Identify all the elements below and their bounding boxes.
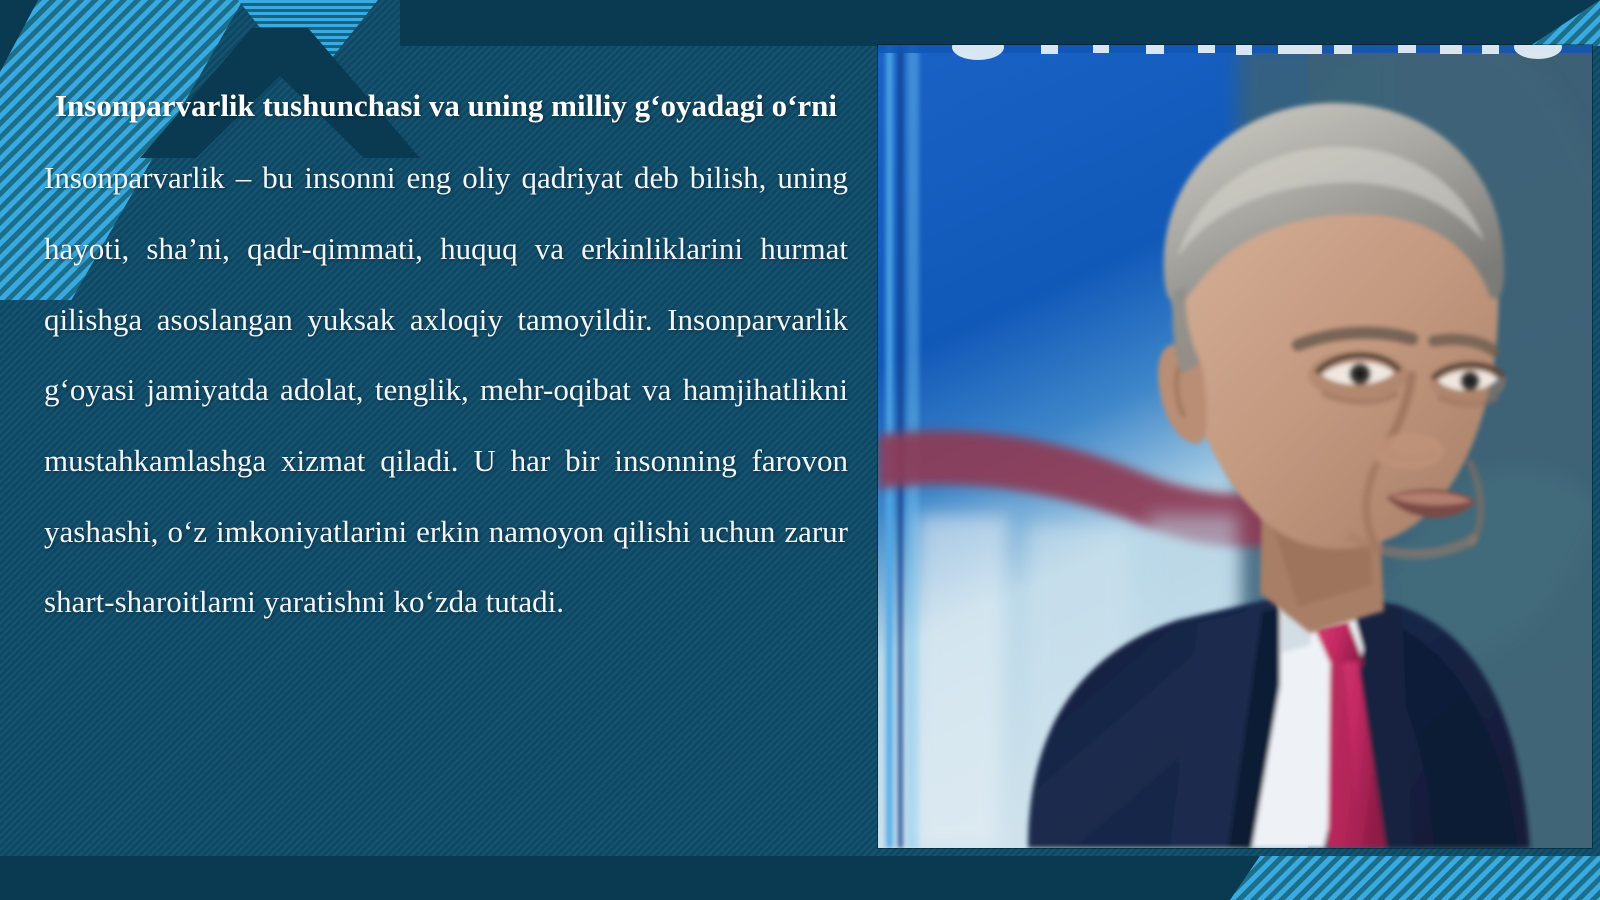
top-band-decoration: [0, 0, 1600, 46]
slide-text-column: Insonparvarlik tushunchasi va uning mill…: [44, 78, 848, 638]
portrait-photo: [878, 45, 1592, 848]
horizontal-stripe-triangle-icon: [238, 0, 378, 88]
presentation-slide: Insonparvarlik tushunchasi va uning mill…: [0, 0, 1600, 900]
portrait-photo-illustration: [878, 45, 1592, 848]
slide-body-paragraph: Insonparvarlik – bu insonni eng oliy qad…: [44, 143, 848, 638]
top-right-stripe-triangle-icon: [1530, 0, 1600, 46]
bottom-right-stripe-parallelogram-icon: [1230, 856, 1600, 900]
bottom-band-decoration: [0, 856, 1600, 900]
slide-title: Insonparvarlik tushunchasi va uning mill…: [44, 78, 848, 133]
